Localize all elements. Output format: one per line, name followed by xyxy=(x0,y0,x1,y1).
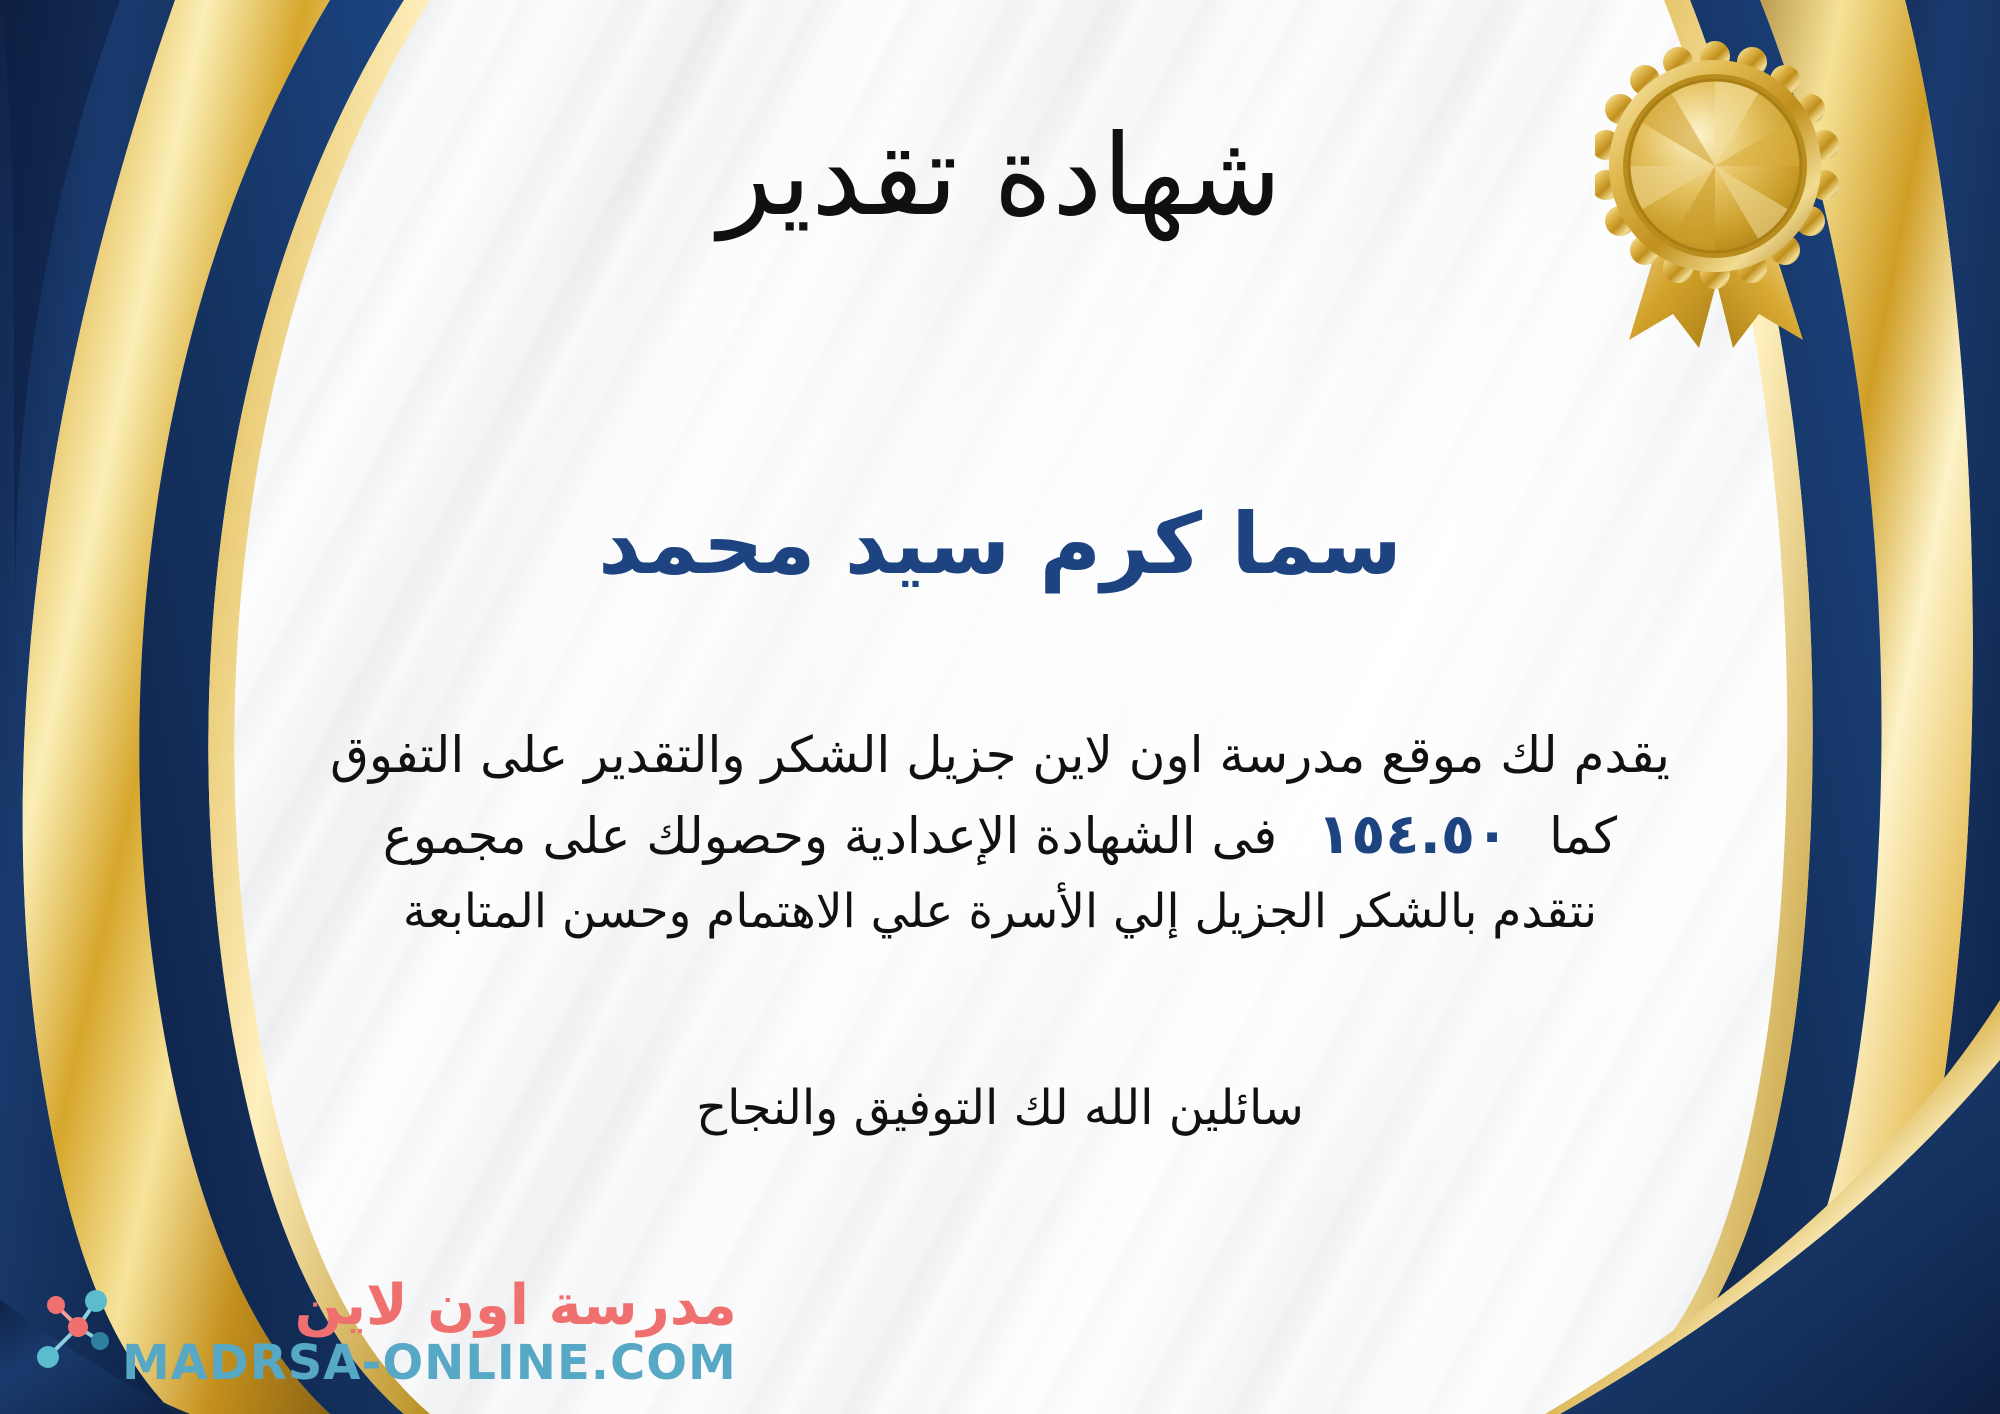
network-nodes-icon xyxy=(26,1283,112,1379)
total-score-value: ١٥٤.٥٠ xyxy=(1293,793,1533,877)
body-line-3: نتقدم بالشكر الجزيل إلي الأسرة علي الاهت… xyxy=(58,877,1942,948)
body-line-1: يقدم لك موقع مدرسة اون لاين جزيل الشكر و… xyxy=(58,718,1942,793)
certificate-title: شهادة تقدير xyxy=(0,118,2000,236)
certificate-body: يقدم لك موقع مدرسة اون لاين جزيل الشكر و… xyxy=(58,718,1942,948)
certificate-content: شهادة تقدير سما كرم سيد محمد يقدم لك موق… xyxy=(0,0,2000,1414)
brand-arabic-name: مدرسة اون لاين xyxy=(122,1275,737,1338)
body-line-2-prefix: فى الشهادة الإعدادية وحصولك على مجموع xyxy=(383,807,1277,865)
body-line-2-suffix: كما xyxy=(1549,807,1617,865)
closing-wish: سائلين الله لك التوفيق والنجاح xyxy=(0,1080,2000,1136)
brand-website-url: MADRSA-ONLINE.COM xyxy=(122,1338,737,1388)
recipient-name: سما كرم سيد محمد xyxy=(0,498,2000,590)
body-line-2: كما ١٥٤.٥٠ فى الشهادة الإعدادية وحصولك ع… xyxy=(58,793,1942,877)
brand-text-group: مدرسة اون لاين MADRSA-ONLINE.COM xyxy=(122,1275,737,1388)
certificate-page: شهادة تقدير سما كرم سيد محمد يقدم لك موق… xyxy=(0,0,2000,1414)
site-brand-logo[interactable]: مدرسة اون لاين MADRSA-ONLINE.COM xyxy=(26,1275,737,1388)
